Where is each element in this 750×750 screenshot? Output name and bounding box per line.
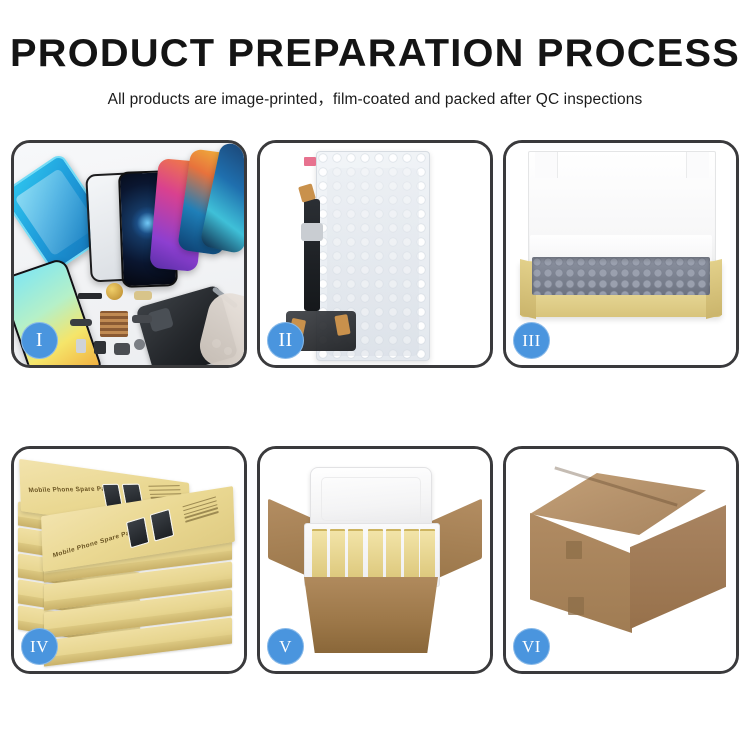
packed-box-7 (420, 529, 435, 579)
steps-grid: I II (11, 140, 739, 674)
ic-chip-part (94, 341, 106, 354)
page-title: PRODUCT PREPARATION PROCESS (0, 34, 750, 75)
packed-box-1 (312, 529, 327, 579)
vibrator-part (114, 343, 130, 355)
packed-box-6 (404, 529, 419, 579)
speaker-module-part (106, 283, 123, 300)
camera-flex-part (132, 315, 152, 323)
step-panel-1[interactable]: I (11, 140, 247, 368)
small-cable-part (70, 319, 92, 326)
header: PRODUCT PREPARATION PROCESS All products… (0, 0, 750, 109)
box-brand-label-2: Mobile Phone Spare Parts (52, 527, 139, 559)
step-badge-4: IV (21, 628, 58, 665)
battery-connector-part (78, 293, 102, 299)
product-preparation-infographic: PRODUCT PREPARATION PROCESS All products… (0, 0, 750, 750)
pink-qc-label (304, 157, 316, 166)
packed-box-3 (348, 529, 363, 579)
box-screen-graphic-2b (150, 509, 175, 542)
step-badge-5: V (267, 628, 304, 665)
step-panel-2[interactable]: II (257, 140, 493, 368)
step-panel-6[interactable]: VI (503, 446, 739, 674)
bubble-foam-insert (532, 257, 710, 295)
gold-flex-part (134, 291, 152, 300)
step-badge-2: II (267, 322, 304, 359)
box-text-lines-2 (182, 496, 218, 522)
page-subtitle: All products are image-printed，film-coat… (0, 87, 750, 109)
step-badge-3: III (513, 322, 550, 359)
step-panel-3[interactable]: III (503, 140, 739, 368)
button-part (134, 339, 145, 350)
lcd-flex-cable (304, 199, 320, 311)
logic-board-part (100, 311, 128, 337)
step-panel-4[interactable]: Mobile Phone Spare Parts Mobile Phone Sp… (11, 446, 247, 674)
packed-box-2 (330, 529, 345, 579)
sim-tray-part (76, 339, 86, 353)
packed-box-5 (386, 529, 401, 579)
step-badge-6: VI (513, 628, 550, 665)
carton-front-face (530, 513, 632, 633)
outer-carton-body (304, 577, 438, 653)
step-panel-5[interactable]: V (257, 446, 493, 674)
carton-tape-mark-upper (566, 541, 582, 559)
foam-lid (310, 467, 432, 531)
packed-box-4 (368, 529, 383, 579)
carton-tape-mark-lower (568, 597, 584, 615)
box-screen-graphic-2a (126, 517, 149, 549)
step-badge-1: I (21, 322, 58, 359)
